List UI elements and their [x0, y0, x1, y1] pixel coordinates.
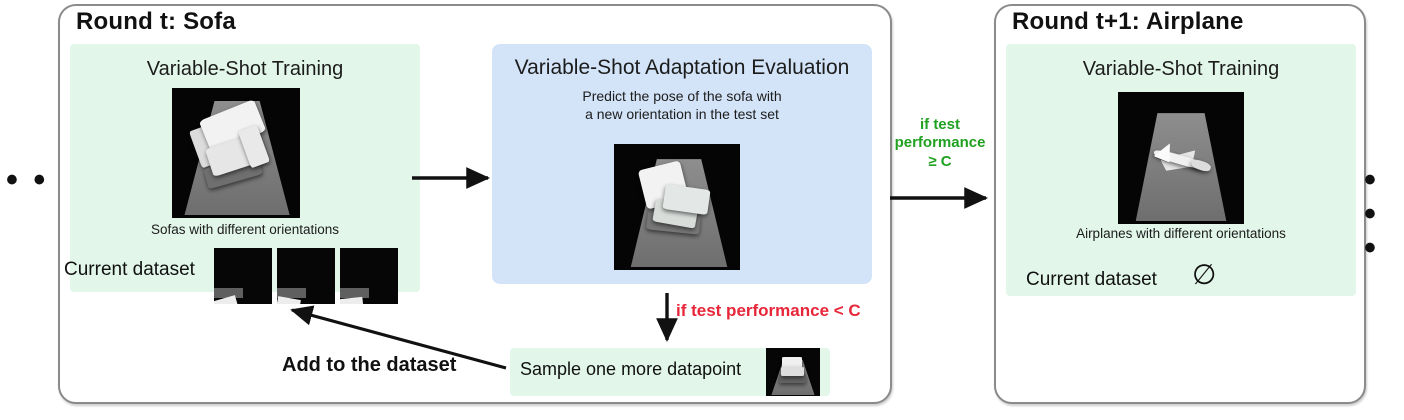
- sofa-eval-render-image: [614, 144, 740, 270]
- evaluation-subtitle-line1: Predict the pose of the sofa with: [492, 88, 872, 106]
- floor-plane: [340, 248, 388, 288]
- dataset-thumbnail-3: [340, 248, 398, 304]
- sample-datapoint-label: Sample one more datapoint: [520, 359, 741, 380]
- pass-condition-line1: if test: [884, 116, 996, 134]
- dataset-thumbnail-1: [214, 248, 272, 304]
- round-t-title: Round t: Sofa: [76, 8, 236, 36]
- pass-condition-line2: performance: [884, 134, 996, 152]
- floor-plane: [214, 248, 262, 288]
- round-t-plus-1-title: Round t+1: Airplane: [1012, 8, 1244, 36]
- ellipsis-right: • • •: [1364, 163, 1404, 265]
- evaluation-subtitle: Predict the pose of the sofa with a new …: [492, 88, 872, 123]
- dataset-thumbnail-2: [277, 248, 335, 304]
- pass-condition-label: if test performance ≥ C: [884, 116, 996, 171]
- sofa-orientations-caption: Sofas with different orientations: [70, 222, 420, 237]
- evaluation-subtitle-line2: a new orientation in the test set: [492, 106, 872, 124]
- empty-set-symbol: ∅: [1192, 261, 1216, 289]
- figure-canvas: • • • Round t: Sofa Variable-Shot Traini…: [0, 0, 1404, 420]
- airplane-render-image: [1118, 92, 1244, 224]
- sofa-render-image: [172, 88, 300, 218]
- fail-condition-label: if test performance < C: [676, 301, 861, 321]
- airplane-orientations-caption: Airplanes with different orientations: [1006, 226, 1356, 241]
- round-t-dataset-label: Current dataset: [64, 259, 195, 281]
- sampled-datapoint-image: [766, 348, 820, 396]
- sofa-backrest: [340, 297, 364, 304]
- round-t-plus-1-training-heading: Variable-Shot Training: [1006, 58, 1356, 81]
- add-to-dataset-label: Add to the dataset: [282, 354, 456, 377]
- floor-plane: [277, 248, 325, 288]
- round-t-training-heading: Variable-Shot Training: [70, 58, 420, 81]
- sofa-seat: [781, 367, 804, 376]
- evaluation-heading: Variable-Shot Adaptation Evaluation: [492, 56, 872, 80]
- pass-condition-line3: ≥ C: [884, 153, 996, 171]
- round-t-plus-1-dataset-label: Current dataset: [1026, 269, 1157, 291]
